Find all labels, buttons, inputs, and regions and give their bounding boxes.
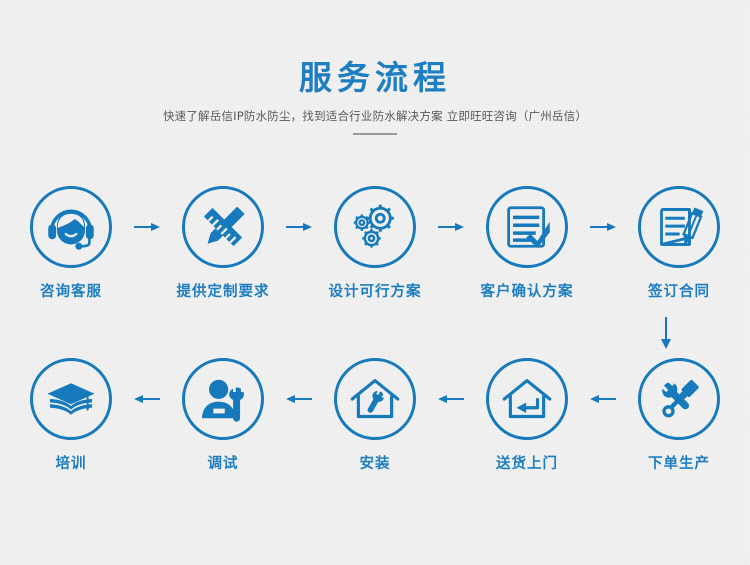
graduation-cap-book-icon	[43, 371, 99, 427]
arrow-left-icon	[437, 392, 465, 406]
step-label: 提供定制要求	[177, 280, 270, 301]
step-label: 咨询客服	[40, 280, 102, 301]
step-label: 调试	[208, 452, 239, 473]
flow-arrow-left	[279, 358, 319, 440]
flow-arrow-left	[127, 358, 167, 440]
flow-arrow-down-connector	[654, 316, 678, 350]
pencil-ruler-icon	[195, 199, 251, 255]
arrow-down-icon	[654, 316, 678, 350]
flow-step-consult-service[interactable]: 咨询客服	[15, 186, 127, 301]
step-circle	[30, 358, 112, 440]
flow-arrow-right	[583, 186, 623, 268]
document-check-icon	[499, 199, 555, 255]
page-header: 服务流程 快速了解岳信IP防水防尘，找到适合行业防水解决方案 立即旺旺咨询（广州…	[0, 58, 750, 135]
step-label: 签订合同	[648, 280, 710, 301]
step-circle	[638, 358, 720, 440]
arrow-left-icon	[133, 392, 161, 406]
flow-arrow-left	[583, 358, 623, 440]
flow-step-custom-requirements[interactable]: 提供定制要求	[167, 186, 279, 301]
flow-step-order-production[interactable]: 下单生产	[623, 358, 735, 473]
step-circle	[334, 186, 416, 268]
flow-step-design-plan[interactable]: 设计可行方案	[319, 186, 431, 301]
arrow-right-icon	[437, 220, 465, 234]
step-label: 设计可行方案	[329, 280, 422, 301]
flow-row-2: 培训	[0, 358, 750, 473]
arrow-right-icon	[133, 220, 161, 234]
flow-step-customer-confirm[interactable]: 客户确认方案	[471, 186, 583, 301]
arrow-left-icon	[285, 392, 313, 406]
technician-wrench-icon	[195, 371, 251, 427]
arrow-left-icon	[589, 392, 617, 406]
gears-icon	[347, 199, 403, 255]
house-delivery-arrow-icon	[499, 371, 555, 427]
step-label: 培训	[56, 452, 87, 473]
contract-pen-icon	[651, 199, 707, 255]
flow-step-training[interactable]: 培训	[15, 358, 127, 473]
flow-row-1: 咨询客服	[0, 186, 750, 301]
flow-step-home-delivery[interactable]: 送货上门	[471, 358, 583, 473]
house-wrench-icon	[347, 371, 403, 427]
step-label: 下单生产	[648, 452, 710, 473]
flow-arrow-left	[431, 358, 471, 440]
flow-arrow-right	[279, 186, 319, 268]
page-subtitle: 快速了解岳信IP防水防尘，找到适合行业防水解决方案 立即旺旺咨询（广州岳信）	[0, 108, 750, 124]
step-circle	[182, 358, 264, 440]
step-label: 客户确认方案	[481, 280, 574, 301]
step-circle	[486, 186, 568, 268]
service-flow-page: 服务流程 快速了解岳信IP防水防尘，找到适合行业防水解决方案 立即旺旺咨询（广州…	[0, 0, 750, 565]
flow-step-sign-contract[interactable]: 签订合同	[623, 186, 735, 301]
step-circle	[30, 186, 112, 268]
flow-arrow-right	[431, 186, 471, 268]
flow-arrow-right	[127, 186, 167, 268]
step-circle	[638, 186, 720, 268]
step-circle	[486, 358, 568, 440]
step-circle	[182, 186, 264, 268]
header-divider	[353, 133, 397, 135]
wrench-screwdriver-icon	[651, 371, 707, 427]
arrow-right-icon	[285, 220, 313, 234]
page-title: 服务流程	[0, 58, 750, 98]
flow-step-debugging[interactable]: 调试	[167, 358, 279, 473]
arrow-right-icon	[589, 220, 617, 234]
flow-step-installation[interactable]: 安装	[319, 358, 431, 473]
headset-support-icon	[43, 199, 99, 255]
step-label: 安装	[360, 452, 391, 473]
step-label: 送货上门	[496, 452, 558, 473]
step-circle	[334, 358, 416, 440]
